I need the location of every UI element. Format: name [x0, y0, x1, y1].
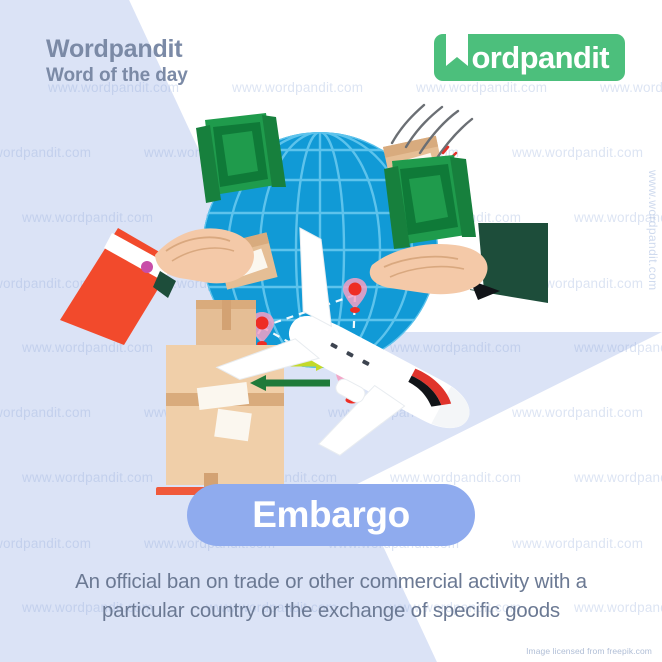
brand-title: Wordpandit	[46, 36, 188, 62]
hand-with-money-right	[370, 155, 548, 303]
word-of-the-day-card: www.wordpandit.com www.wordpandit.com ww…	[0, 0, 662, 662]
wordpandit-logo[interactable]: ordpandit	[434, 34, 625, 81]
money-bills-icon	[384, 155, 476, 249]
logo-text: ordpandit	[471, 42, 609, 73]
word-term: Embargo	[252, 494, 410, 536]
bookmark-w-icon	[442, 34, 472, 81]
image-credit: Image licensed from freepik.com	[526, 646, 652, 656]
header-block: Wordpandit Word of the day	[46, 36, 188, 88]
page-subtitle: Word of the day	[46, 65, 188, 88]
word-definition: An official ban on trade or other commer…	[33, 567, 629, 625]
arrow-left-icon	[250, 375, 330, 391]
word-pill: Embargo	[187, 484, 475, 546]
global-trade-embargo-illustration	[0, 95, 662, 495]
